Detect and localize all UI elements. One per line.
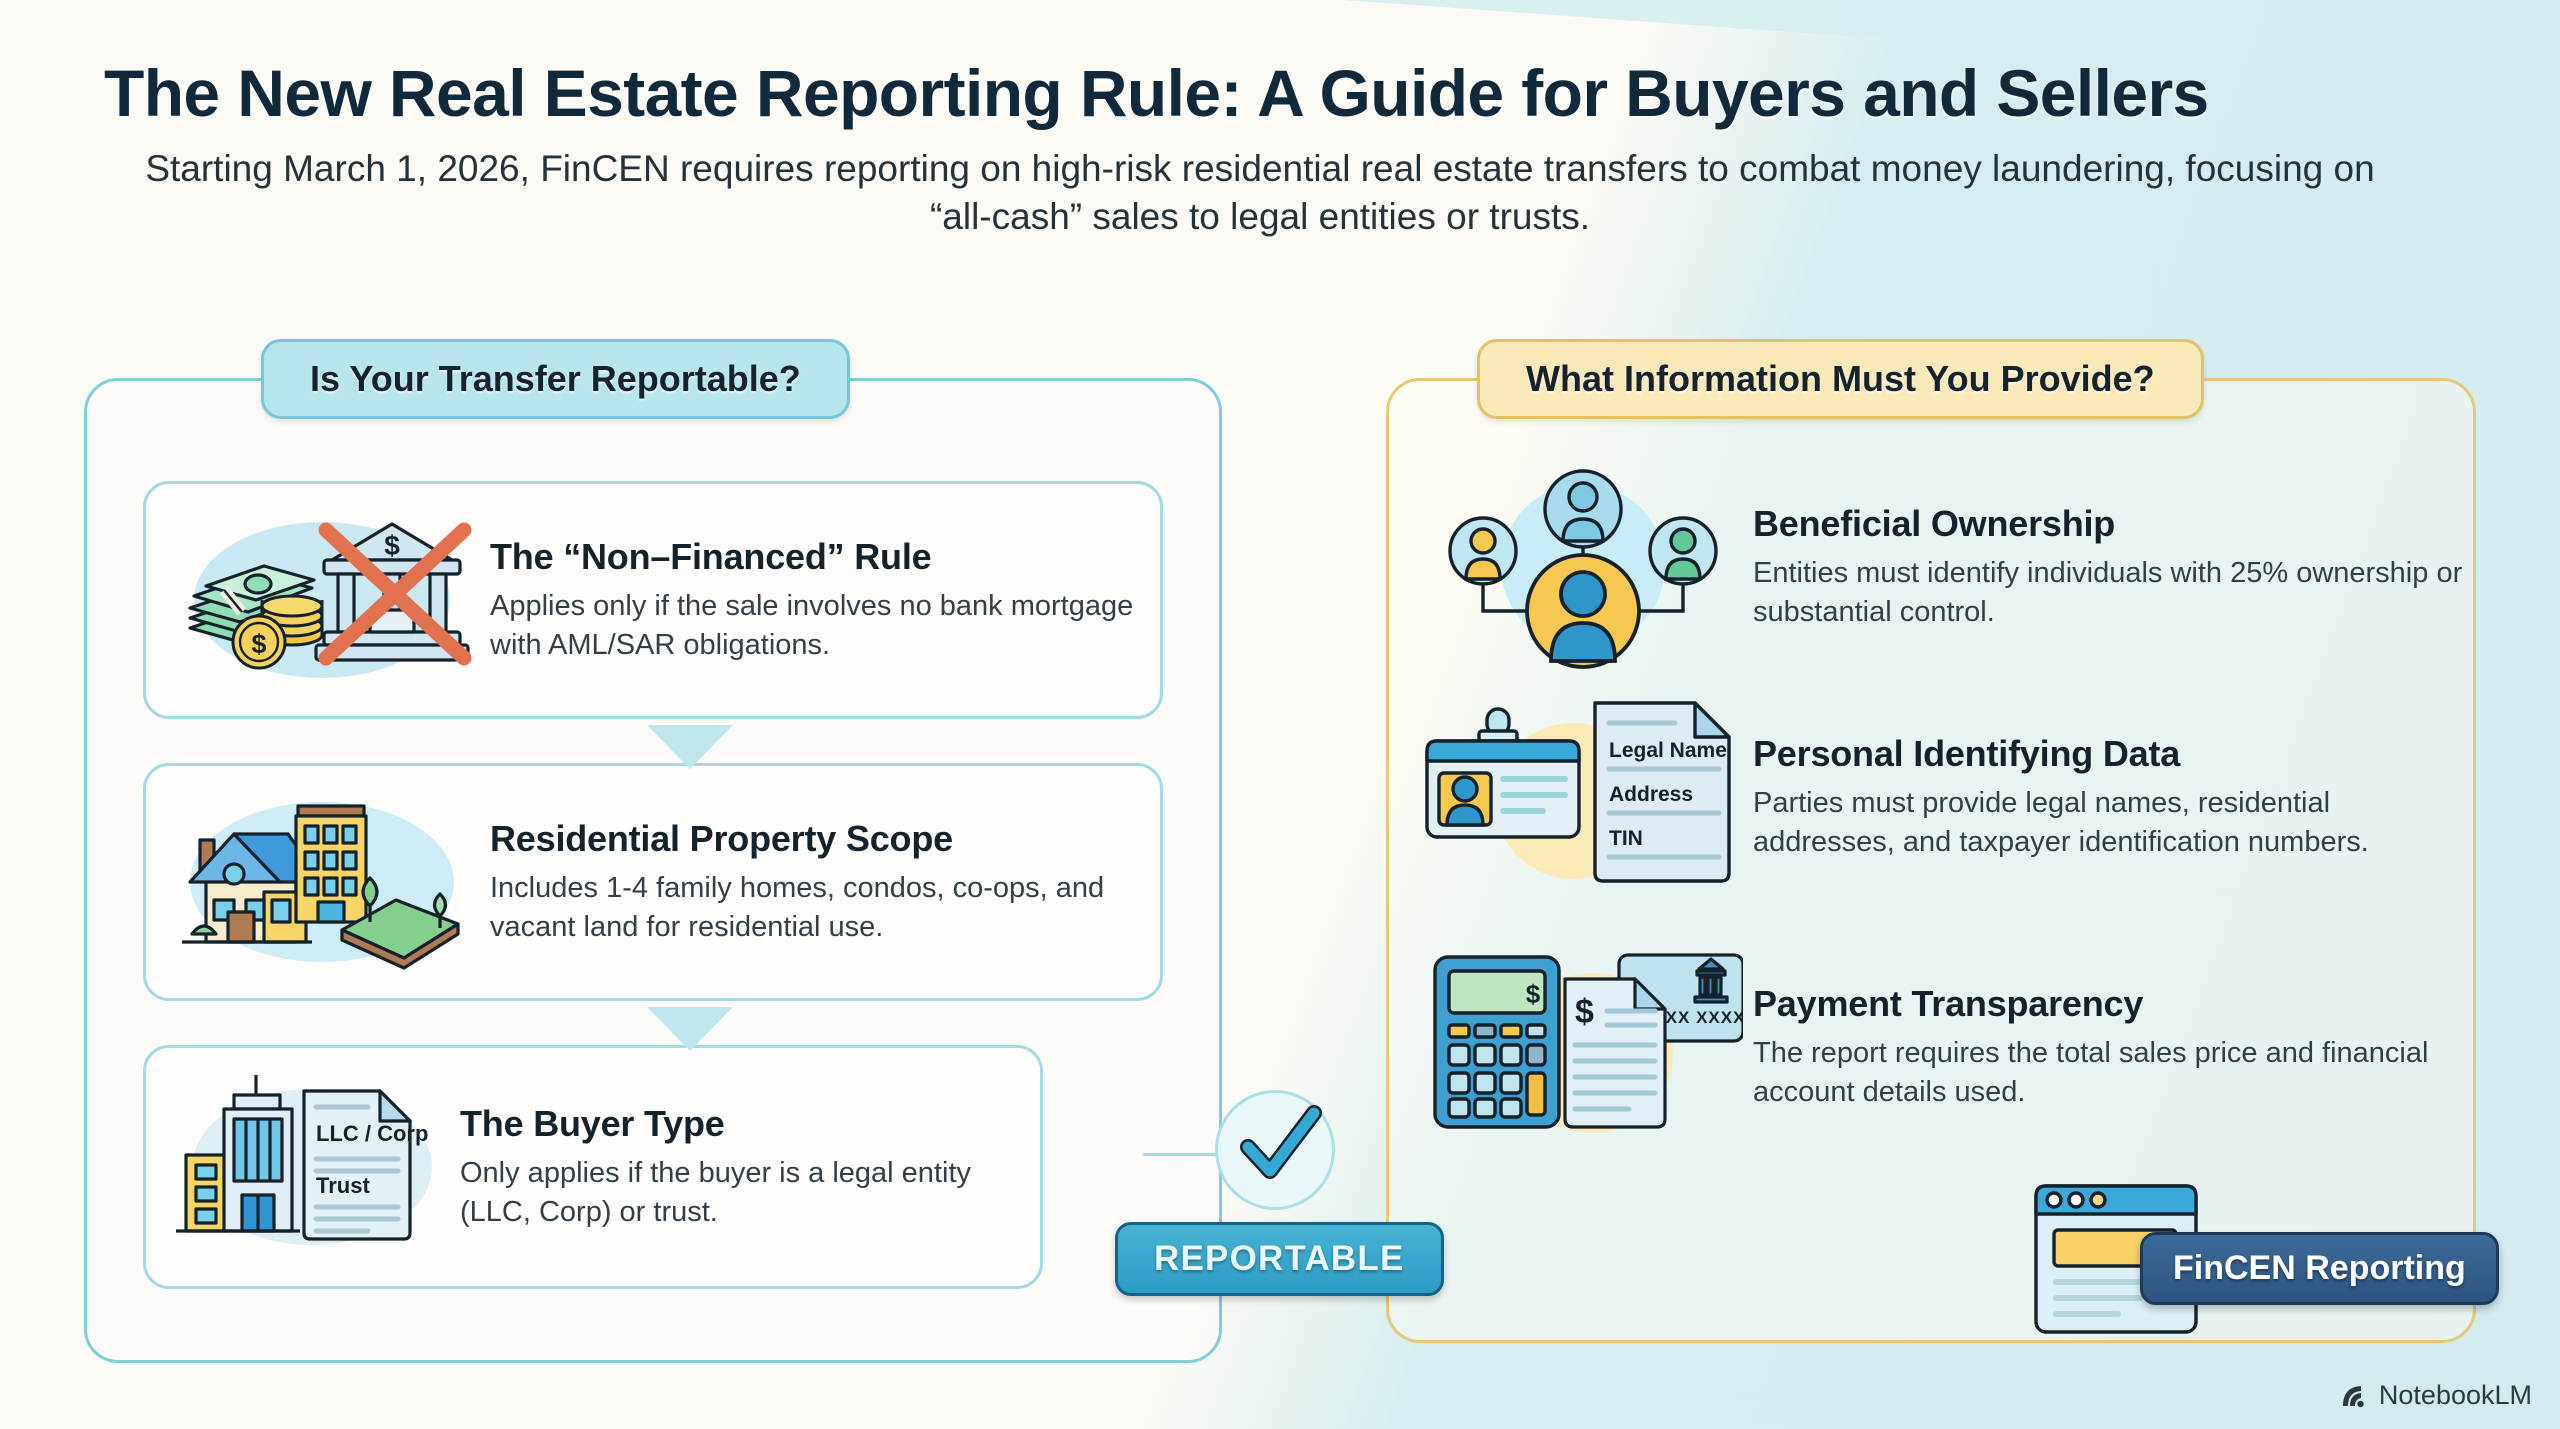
flow-card-text: The Buyer Type Only applies if the buyer…	[442, 1103, 1014, 1231]
info-item-description: Entities must identify individuals with …	[1753, 554, 2463, 631]
info-item-description: Parties must provide legal names, reside…	[1753, 784, 2463, 861]
calculator-invoice-and-bank-card-icon: XXXX XXXX $	[1423, 941, 1743, 1156]
document-line-llc-corp: LLC / Corp	[316, 1121, 428, 1146]
svg-text:$: $	[384, 530, 400, 561]
info-item-text: Personal Identifying Data Parties must p…	[1743, 691, 2463, 861]
flow-card-title: Residential Property Scope	[490, 818, 1134, 860]
info-item-personal-identifying-data[interactable]: Legal Name Address TIN Personal Identify…	[1423, 691, 2463, 906]
info-item-text: Payment Transparency The report requires…	[1743, 941, 2463, 1111]
header: The New Real Estate Reporting Rule: A Gu…	[0, 58, 2560, 241]
info-item-description: The report requires the total sales pric…	[1753, 1034, 2463, 1111]
page-subtitle: Starting March 1, 2026, FinCEN requires …	[0, 145, 2560, 241]
flow-card-residential-property-scope[interactable]: Residential Property Scope Includes 1-4 …	[143, 763, 1163, 1001]
form-field-legal-name: Legal Name	[1609, 739, 1727, 762]
right-panel-header: What Information Must You Provide?	[1477, 339, 2204, 419]
flow-card-description: Applies only if the sale involves no ban…	[490, 587, 1134, 664]
document-line-trust: Trust	[316, 1173, 370, 1198]
svg-text:$: $	[1575, 993, 1594, 1031]
flow-card-description: Only applies if the buyer is a legal ent…	[460, 1154, 1014, 1231]
id-badge-and-form-icon: Legal Name Address TIN	[1423, 691, 1743, 906]
fincen-reporting-badge-group[interactable]: FinCEN Reporting	[2030, 1180, 2490, 1350]
info-item-title: Personal Identifying Data	[1753, 733, 2463, 775]
svg-text:$: $	[251, 629, 266, 659]
notebooklm-label: NotebookLM	[2379, 1380, 2532, 1411]
info-item-beneficial-ownership[interactable]: Beneficial Ownership Entities must ident…	[1423, 461, 2463, 676]
info-item-payment-transparency[interactable]: XXXX XXXX $	[1423, 941, 2463, 1156]
blue-checkmark-icon	[1215, 1090, 1335, 1210]
reportable-badge[interactable]: REPORTABLE	[1115, 1222, 1444, 1296]
cash-stack-and-crossed-out-bank-icon: $ $	[172, 500, 472, 700]
flow-card-text: Residential Property Scope Includes 1-4 …	[472, 818, 1134, 946]
reportable-outcome: REPORTABLE	[1115, 1090, 1435, 1296]
flow-card-buyer-type[interactable]: LLC / Corp Trust The Buyer Type Only app…	[143, 1045, 1043, 1289]
flow-card-non-financed-rule[interactable]: $ $	[143, 481, 1163, 719]
flow-card-description: Includes 1-4 family homes, condos, co-op…	[490, 869, 1134, 946]
flow-card-title: The “Non–Financed” Rule	[490, 536, 1134, 578]
svg-text:$: $	[1526, 979, 1541, 1009]
form-field-address: Address	[1609, 783, 1693, 806]
form-field-tin: TIN	[1609, 827, 1643, 850]
info-item-title: Beneficial Ownership	[1753, 503, 2463, 545]
house-apartment-and-vacant-land-icon	[172, 782, 472, 982]
notebooklm-watermark: NotebookLM	[2339, 1380, 2532, 1411]
fincen-reporting-label[interactable]: FinCEN Reporting	[2140, 1232, 2499, 1305]
left-panel-header: Is Your Transfer Reportable?	[261, 339, 850, 419]
flow-card-text: The “Non–Financed” Rule Applies only if …	[472, 536, 1134, 664]
people-network-icon	[1423, 461, 1743, 676]
info-item-text: Beneficial Ownership Entities must ident…	[1743, 461, 2463, 631]
page-title: The New Real Estate Reporting Rule: A Gu…	[0, 58, 2560, 129]
infographic-canvas: The New Real Estate Reporting Rule: A Gu…	[0, 0, 2560, 1429]
office-building-and-llc-trust-document-icon: LLC / Corp Trust	[172, 1067, 442, 1267]
notebooklm-logo-icon	[2339, 1381, 2369, 1411]
left-panel: Is Your Transfer Reportable?	[84, 378, 1222, 1363]
flow-card-title: The Buyer Type	[460, 1103, 1014, 1145]
info-item-title: Payment Transparency	[1753, 983, 2463, 1025]
